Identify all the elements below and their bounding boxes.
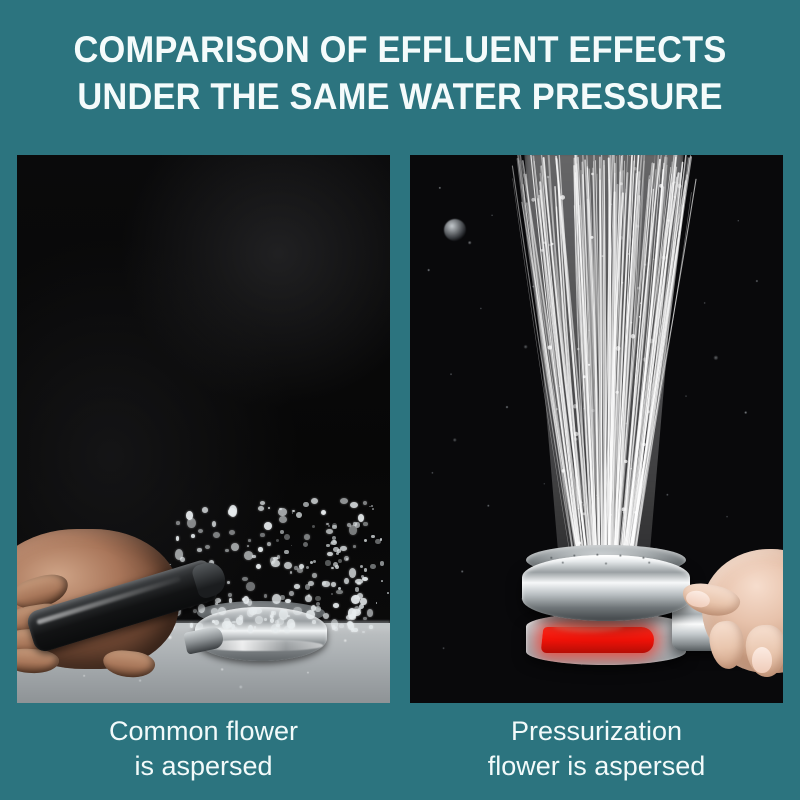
water-mist-drop xyxy=(541,249,544,252)
pressurized-water-jet xyxy=(506,155,702,603)
water-mist-drop xyxy=(561,469,565,473)
panel-captions: Common flower is aspersed Pressurization… xyxy=(17,706,783,800)
water-mist-drop xyxy=(588,364,590,366)
water-mist-drop xyxy=(565,430,568,433)
air-droplet xyxy=(370,564,376,570)
water-mist-drop xyxy=(551,243,553,245)
water-mist-drop xyxy=(559,385,561,387)
water-mist-drop xyxy=(583,504,584,505)
water-mist-drop xyxy=(548,345,552,349)
water-mist-drop xyxy=(531,198,535,202)
air-droplet xyxy=(359,604,364,609)
water-mist-drop xyxy=(579,498,580,499)
photo-panel-common-shower xyxy=(17,155,390,703)
air-droplet xyxy=(333,562,338,567)
air-droplet xyxy=(364,539,367,542)
water-mist-drop xyxy=(628,253,629,254)
air-droplet xyxy=(305,584,311,590)
water-mist-drop xyxy=(619,236,623,240)
water-mist-drop xyxy=(674,196,676,198)
air-droplet xyxy=(310,561,313,564)
air-droplet xyxy=(338,587,341,590)
water-mist-drop xyxy=(597,497,599,499)
title-line-1: COMPARISON OF EFFLUENT EFFECTS xyxy=(28,26,772,73)
water-mist-drop xyxy=(591,173,594,176)
air-droplet xyxy=(330,542,332,544)
air-droplet xyxy=(306,566,309,569)
fingernail-middle xyxy=(752,647,772,673)
air-droplet xyxy=(387,592,389,594)
air-droplet xyxy=(357,599,359,601)
air-droplet xyxy=(364,568,367,571)
water-mist-drop xyxy=(583,408,585,410)
air-droplet xyxy=(337,549,341,553)
water-mist-drop xyxy=(578,541,581,544)
water-mist-drop xyxy=(644,372,646,374)
water-mist-drop xyxy=(582,512,585,515)
water-mist-drop xyxy=(647,410,650,413)
air-droplet xyxy=(361,518,364,521)
water-mist-drop xyxy=(667,219,670,222)
air-droplet xyxy=(360,565,363,568)
water-mist-drop xyxy=(596,495,597,496)
page-title: COMPARISON OF EFFLUENT EFFECTS UNDER THE… xyxy=(0,26,800,120)
air-droplet xyxy=(375,539,381,545)
water-mist-drop xyxy=(622,507,626,511)
water-mist-drop xyxy=(677,184,681,188)
water-mist-drop xyxy=(578,508,579,509)
water-mist-drop xyxy=(616,391,619,394)
air-droplet xyxy=(326,544,330,548)
air-droplet xyxy=(280,595,285,600)
air-droplet xyxy=(284,534,290,540)
water-mist-drop xyxy=(662,255,666,259)
water-mist-drop xyxy=(616,346,621,351)
comparison-panels xyxy=(17,155,783,703)
red-led-glow xyxy=(541,627,656,653)
air-droplet xyxy=(303,542,308,547)
water-mist-drop xyxy=(610,514,612,516)
air-droplet xyxy=(312,525,315,528)
air-droplet xyxy=(315,596,320,601)
air-droplet xyxy=(316,602,320,606)
caption-right-line-1: Pressurization xyxy=(410,714,783,749)
water-mist-drop xyxy=(653,258,654,259)
water-mist-drop xyxy=(621,282,623,284)
water-mist-drop xyxy=(633,167,636,170)
water-mist-drop xyxy=(577,348,580,351)
air-droplet xyxy=(381,580,383,582)
air-droplet xyxy=(332,525,337,530)
caption-left: Common flower is aspersed xyxy=(17,706,390,800)
water-mist-drop xyxy=(637,287,640,290)
wall-water-droplet xyxy=(444,219,466,241)
air-droplet xyxy=(303,502,308,507)
water-mist-drop xyxy=(548,244,550,246)
air-droplet xyxy=(346,558,348,560)
air-droplet xyxy=(380,561,385,566)
water-mist-drop xyxy=(620,182,623,185)
water-mist-drop xyxy=(631,334,636,339)
water-mist-drop xyxy=(601,255,603,257)
air-droplet xyxy=(292,512,294,514)
water-mist-drop xyxy=(574,437,577,440)
air-droplet xyxy=(284,550,289,555)
air-droplet xyxy=(331,593,333,595)
water-mist-drop xyxy=(630,322,632,324)
air-droplet xyxy=(291,545,293,547)
water-mist-drop xyxy=(592,409,595,412)
air-droplet xyxy=(355,587,360,592)
caption-left-line-1: Common flower xyxy=(17,714,390,749)
air-droplet xyxy=(361,575,365,579)
water-mist-drop xyxy=(573,404,577,408)
water-mist-drop xyxy=(642,443,646,447)
water-mist-drop xyxy=(634,511,637,514)
title-line-2: UNDER THE SAME WATER PRESSURE xyxy=(28,73,772,120)
air-droplet xyxy=(276,539,279,542)
scattered-droplets xyxy=(272,503,390,613)
water-mist-drop xyxy=(623,512,625,514)
air-droplet xyxy=(376,602,378,604)
water-mist-drop xyxy=(556,408,558,410)
caption-right: Pressurization flower is aspersed xyxy=(410,706,783,800)
caption-left-line-2: is aspersed xyxy=(17,749,390,784)
water-mist-drop xyxy=(639,316,641,318)
air-droplet xyxy=(371,505,373,507)
water-mist-drop xyxy=(649,339,654,344)
water-mist-drop xyxy=(659,184,663,188)
water-mist-drop xyxy=(581,501,583,503)
water-mist-drop xyxy=(583,375,586,378)
air-droplet xyxy=(372,508,374,510)
air-droplet xyxy=(328,525,330,527)
air-droplet xyxy=(313,560,316,563)
water-mist-drop xyxy=(643,358,647,362)
water-mist-drop xyxy=(560,195,565,200)
air-droplet xyxy=(371,535,375,539)
air-droplet xyxy=(338,559,342,563)
water-mist-drop xyxy=(630,468,632,470)
water-mist-drop xyxy=(543,242,545,244)
water-mist-drop xyxy=(640,302,642,304)
water-mist-drop xyxy=(590,236,593,239)
air-droplet xyxy=(280,530,284,534)
caption-right-line-2: flower is aspersed xyxy=(410,749,783,784)
air-droplet xyxy=(315,606,321,612)
shower-head-nozzle-holes xyxy=(534,549,678,571)
air-droplet xyxy=(322,581,326,585)
photo-panel-pressurized-shower xyxy=(410,155,783,703)
air-droplet xyxy=(296,512,302,518)
water-mist-drop xyxy=(624,460,627,463)
water-mist-drop xyxy=(574,432,578,436)
air-droplet xyxy=(355,522,360,527)
air-droplet xyxy=(325,560,330,565)
